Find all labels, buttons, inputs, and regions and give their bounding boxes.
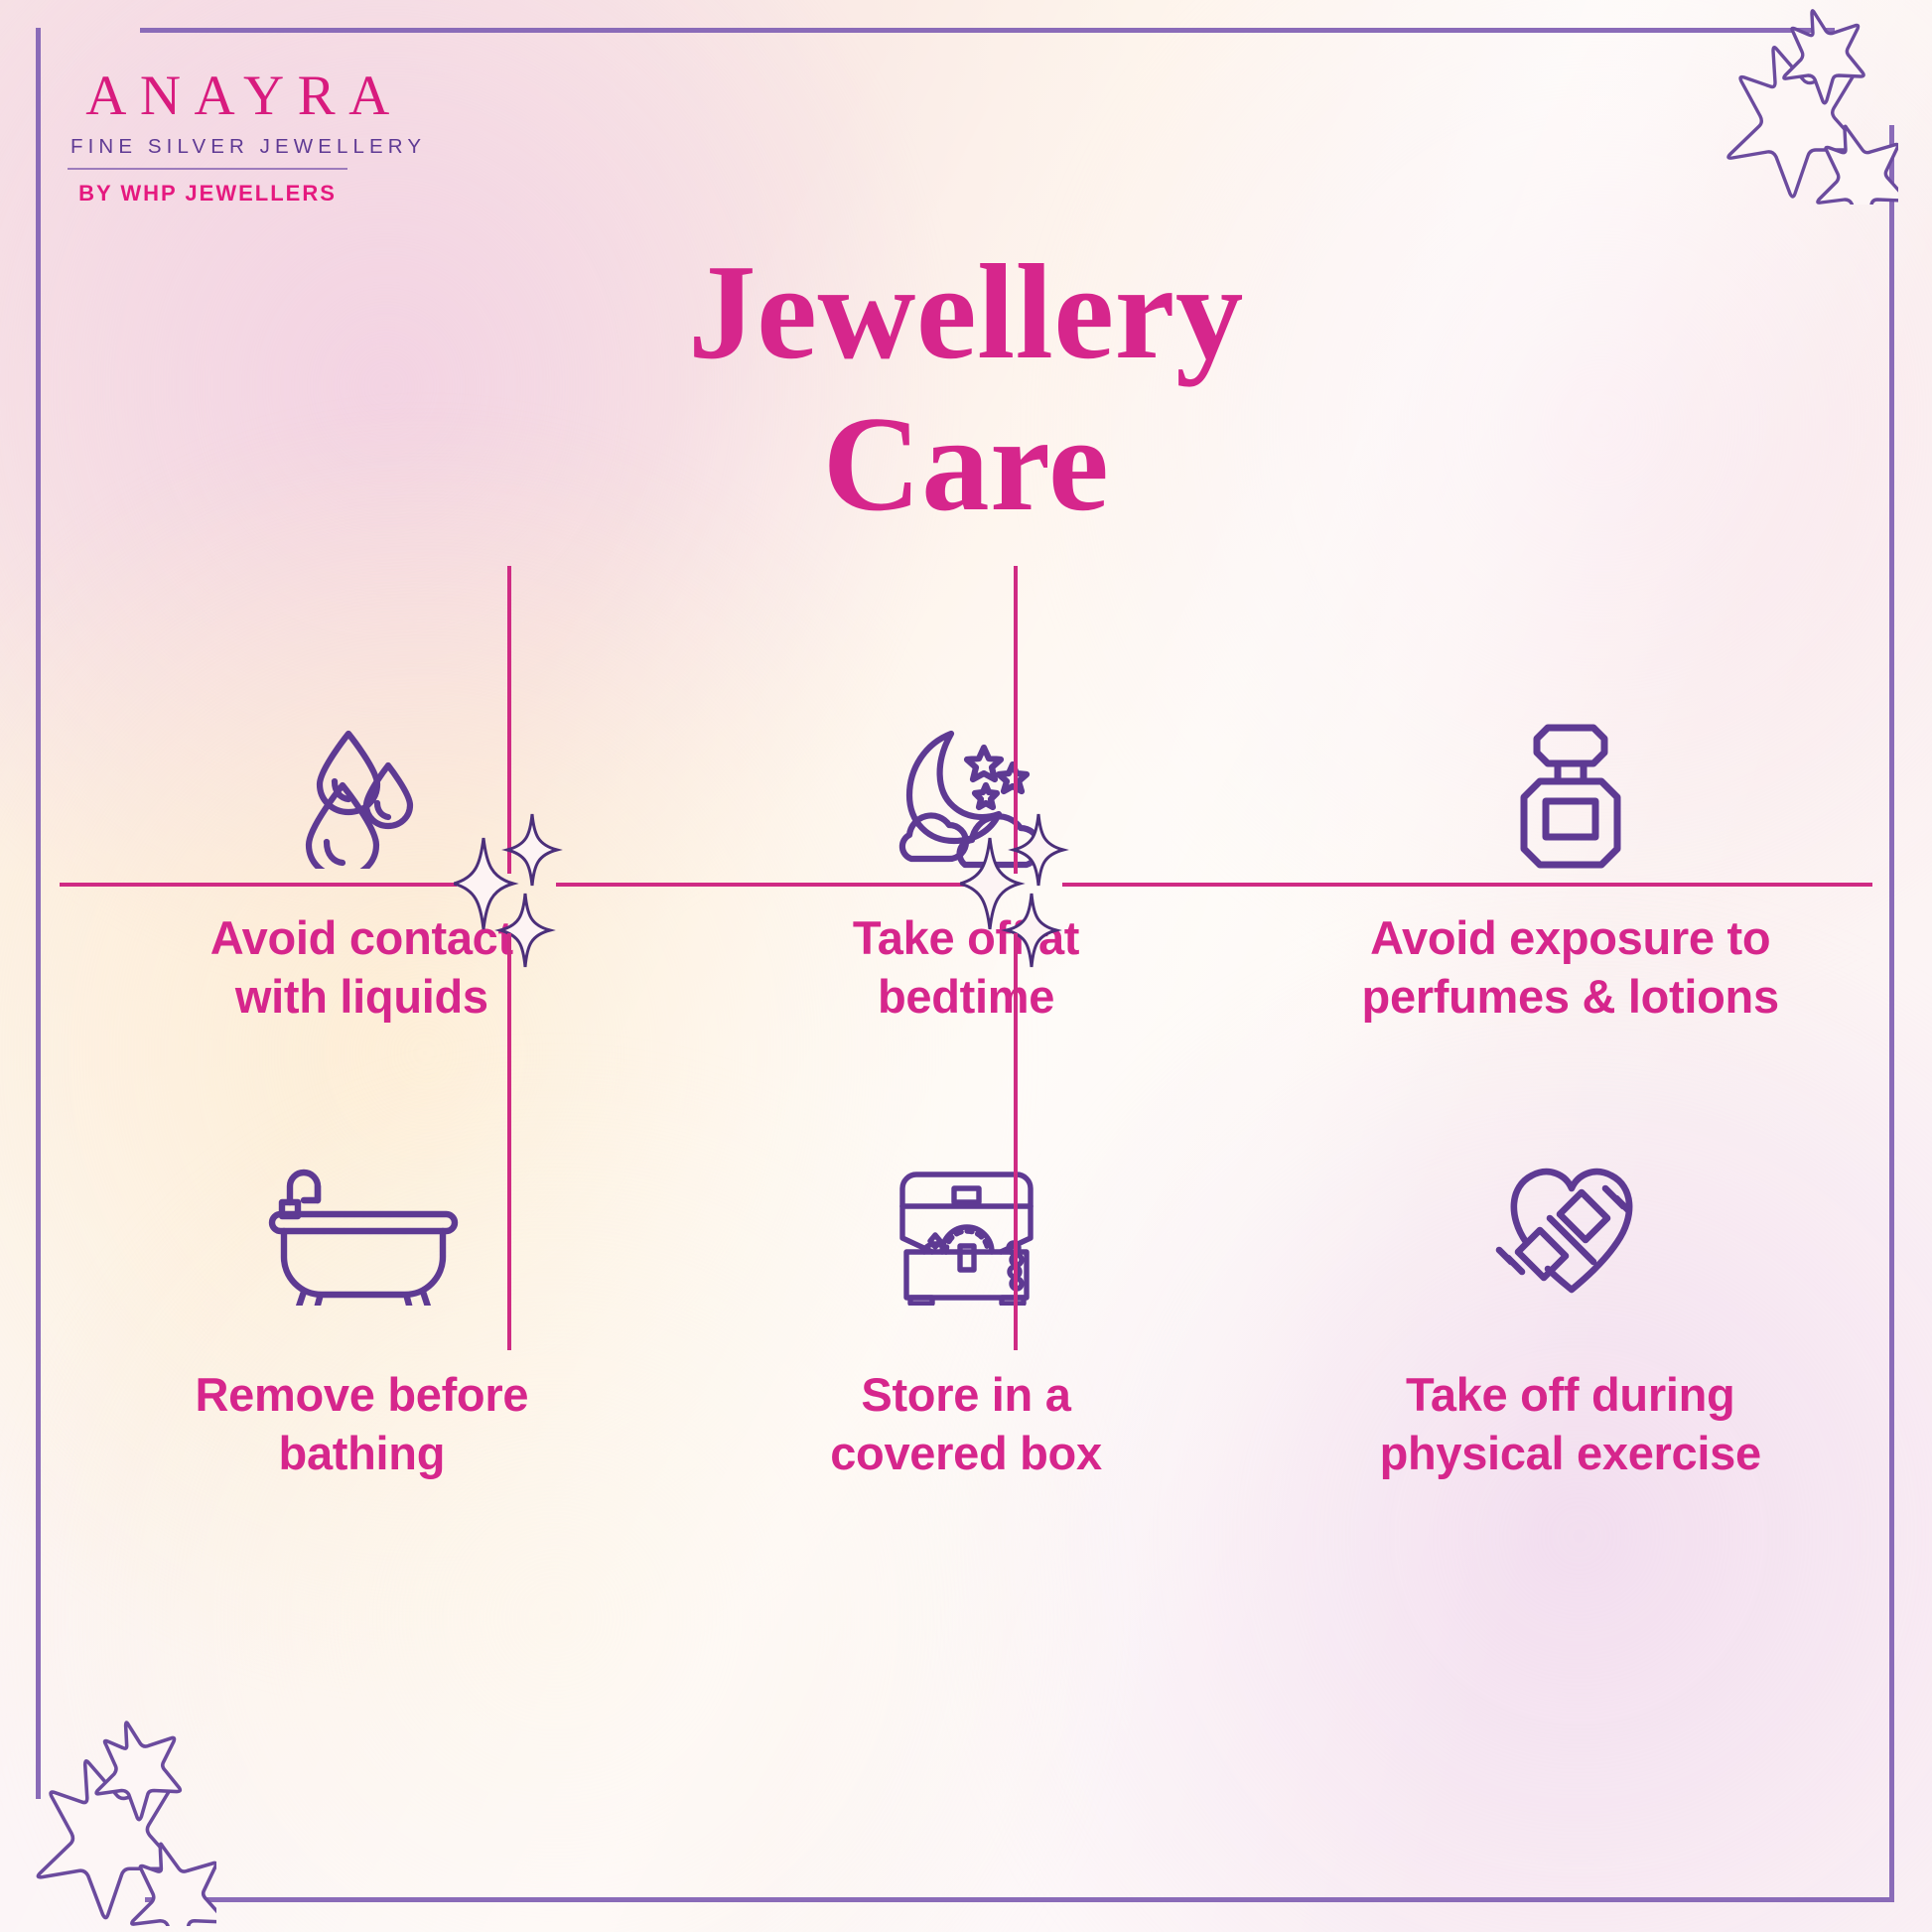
tips-grid: Avoid contact with liquids [60, 685, 1872, 1579]
page-title-line1: Jewellery [688, 236, 1244, 387]
divider-horizontal-center [556, 883, 965, 887]
tip-caption-line2: physical exercise [1380, 1427, 1761, 1479]
dumbbell-heart-icon [1486, 1132, 1655, 1306]
brand-logo: ANAYRA FINE SILVER JEWELLERY BY WHP JEWE… [66, 68, 413, 207]
page-title-line2: Care [0, 388, 1932, 540]
brand-byline: BY WHP JEWELLERS [68, 181, 347, 207]
page-title: Jewellery Care [0, 236, 1932, 541]
tip-card-bathing: Remove before bathing [60, 1132, 664, 1579]
brand-divider [68, 168, 347, 170]
tip-card-avoid-liquids: Avoid contact with liquids [60, 685, 664, 1132]
tip-caption: Avoid exposure to perfumes & lotions [1352, 908, 1789, 1026]
tip-caption-line1: Avoid exposure to [1370, 911, 1770, 964]
tip-caption: Take off during physical exercise [1370, 1365, 1771, 1482]
water-drops-icon [287, 685, 436, 869]
tips-row-2: Remove before bathing [60, 1132, 1872, 1579]
divider-horizontal-right [1062, 883, 1872, 887]
poster-canvas: ANAYRA FINE SILVER JEWELLERY BY WHP JEWE… [0, 0, 1932, 1932]
tip-caption-line1: Take off during [1406, 1368, 1734, 1421]
tip-caption-line2: covered box [830, 1427, 1102, 1479]
divider-vertical-bottom-right [1014, 933, 1018, 1350]
tip-card-perfumes: Avoid exposure to perfumes & lotions [1268, 685, 1872, 1132]
tip-caption: Remove before bathing [186, 1365, 539, 1482]
tip-caption-line2: bathing [279, 1427, 446, 1479]
tip-caption-line1: Store in a [861, 1368, 1070, 1421]
tip-caption-line2: with liquids [235, 970, 488, 1023]
divider-vertical-bottom-left [507, 933, 511, 1350]
tip-caption-line2: bedtime [878, 970, 1054, 1023]
tip-card-exercise: Take off during physical exercise [1268, 1132, 1872, 1579]
bathtub-icon [260, 1132, 464, 1306]
divider-horizontal-left [60, 883, 457, 887]
perfume-bottle-icon [1501, 685, 1640, 869]
jewellery-box-icon [885, 1132, 1048, 1306]
brand-tagline: FINE SILVER JEWELLERY [66, 135, 413, 159]
tip-caption-line2: perfumes & lotions [1362, 970, 1779, 1023]
brand-name: ANAYRA [66, 68, 413, 124]
tip-card-covered-box: Store in a covered box [664, 1132, 1269, 1579]
tip-caption-line1: Remove before [196, 1368, 529, 1421]
tip-caption: Store in a covered box [820, 1365, 1112, 1482]
